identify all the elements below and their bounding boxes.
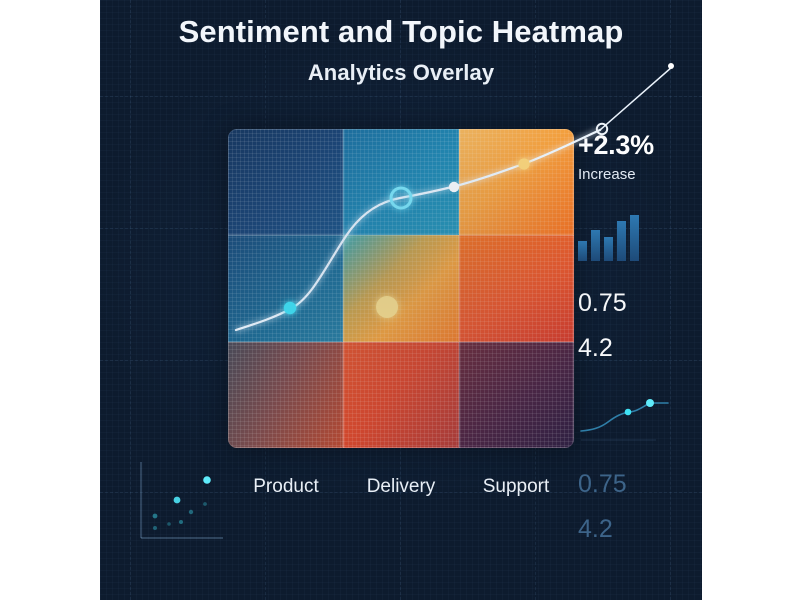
heatmap-grid [228, 129, 574, 448]
scatter-point [203, 502, 207, 506]
mini-bar-5 [630, 215, 639, 261]
page-subtitle: Analytics Overlay [100, 60, 702, 86]
scatter-point [153, 514, 158, 519]
heatmap-cell-negative-support[interactable] [459, 342, 574, 448]
mini-bar-1 [578, 241, 587, 261]
heatmap-cell-positive-support[interactable] [459, 129, 574, 235]
heatmap-cell-positive-product[interactable] [228, 129, 343, 235]
scatter-point [174, 497, 181, 504]
metric-score-value: 0.75 [578, 291, 698, 316]
heatmap-cell-neutral-product[interactable] [228, 235, 343, 341]
axis-label-support: Support [458, 476, 574, 498]
page-title: Sentiment and Topic Heatmap [100, 14, 702, 50]
heatmap-cell-negative-delivery[interactable] [343, 342, 458, 448]
sparkline-dot-1 [625, 409, 632, 416]
metric-change: +2.3% Increase [578, 132, 698, 183]
scatter-point [167, 522, 171, 526]
metrics-rail: +2.3% Increase 0.75 4.2 0.75 4.2 [578, 132, 698, 542]
heatmap[interactable] [228, 129, 574, 448]
scatter-point [153, 526, 157, 530]
sparkline-path [581, 403, 668, 431]
mini-sparkline[interactable] [578, 387, 673, 445]
scatter-point [203, 476, 211, 484]
metric-score-ghost: 0.75 [578, 472, 698, 497]
metric-rating-value: 4.2 [578, 336, 698, 361]
bg-dash-v1 [130, 0, 131, 600]
mini-bar-2 [591, 230, 600, 261]
sparkline-dot-2 [646, 399, 654, 407]
mini-scatter-chart[interactable] [135, 458, 235, 546]
metric-change-caption: Increase [578, 166, 698, 183]
heatmap-cell-neutral-support[interactable] [459, 235, 574, 341]
screenshot-root: Sentiment and Topic Heatmap Analytics Ov… [0, 0, 800, 600]
scatter-point [189, 510, 193, 514]
mini-bar-chart[interactable] [578, 215, 698, 261]
metric-change-value: +2.3% [578, 132, 698, 159]
axis-label-product: Product [228, 476, 344, 498]
scatter-point [179, 520, 183, 524]
axis-label-delivery: Delivery [343, 476, 459, 498]
bg-dash-h1 [100, 96, 702, 97]
mini-bar-3 [604, 237, 613, 261]
heatmap-cell-negative-product[interactable] [228, 342, 343, 448]
analytics-panel: Sentiment and Topic Heatmap Analytics Ov… [100, 0, 702, 600]
metric-rating-ghost: 4.2 [578, 517, 698, 542]
heatmap-cell-neutral-delivery[interactable] [343, 235, 458, 341]
mini-bar-4 [617, 221, 626, 261]
heatmap-cell-positive-delivery[interactable] [343, 129, 458, 235]
